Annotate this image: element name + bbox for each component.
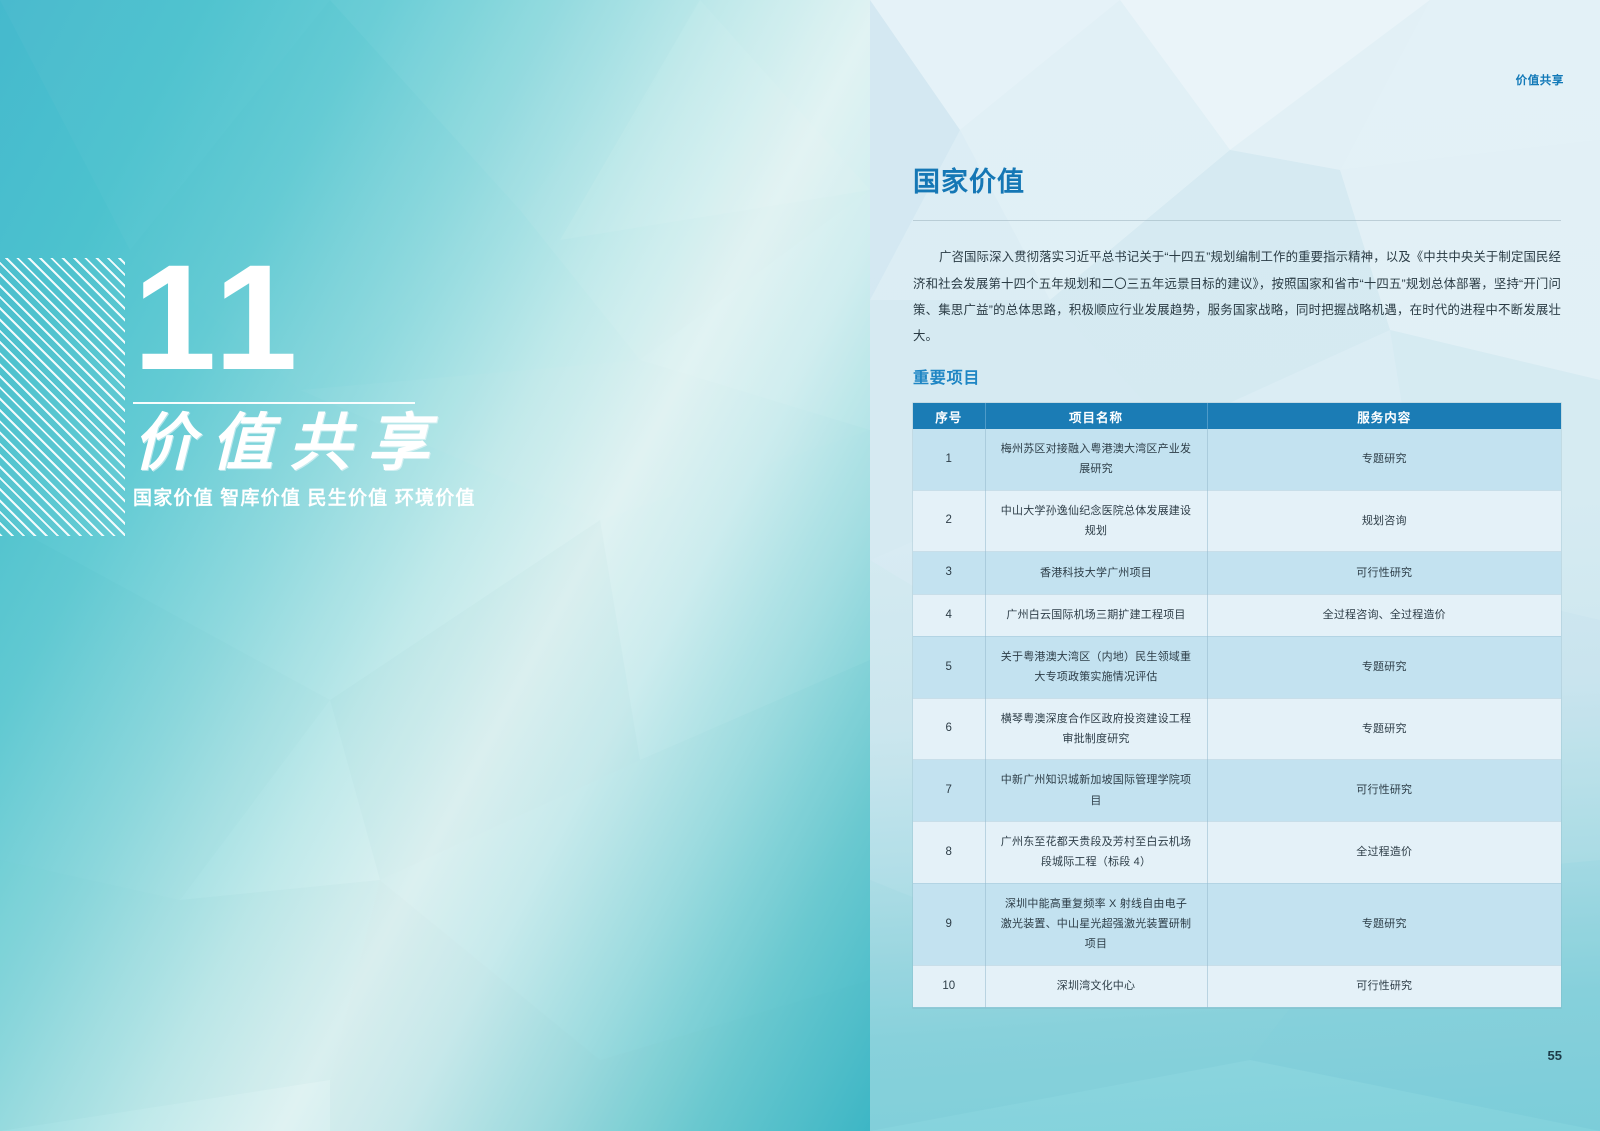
page-title: 国家价值 (913, 160, 1025, 199)
cell-service: 专题研究 (1207, 429, 1561, 490)
running-head: 价值共享 (1516, 72, 1564, 88)
cell-project-name: 香港科技大学广州项目 (985, 552, 1207, 594)
cell-service: 可行性研究 (1207, 552, 1561, 594)
column-header-name: 项目名称 (985, 403, 1207, 429)
column-header-service: 服务内容 (1207, 403, 1561, 429)
cell-no: 4 (913, 594, 985, 636)
table-header-row: 序号 项目名称 服务内容 (913, 403, 1561, 429)
chapter-number: 11 (133, 248, 563, 386)
left-cover-page: 11 价值共享 国家价值 智库价值 民生价值 环境价值 (0, 0, 870, 1131)
table-row: 2中山大学孙逸仙纪念医院总体发展建设规划规划咨询 (913, 490, 1561, 552)
table-row: 4广州白云国际机场三期扩建工程项目全过程咨询、全过程造价 (913, 594, 1561, 636)
cell-service: 专题研究 (1207, 636, 1561, 698)
cell-project-name: 关于粤港澳大湾区（内地）民生领域重大专项政策实施情况评估 (985, 636, 1207, 698)
chapter-title-cn: 价值共享 (133, 410, 563, 479)
cover-divider (133, 402, 415, 404)
cell-service: 专题研究 (1207, 698, 1561, 760)
cell-service: 可行性研究 (1207, 760, 1561, 822)
diagonal-hatch-decoration (0, 258, 125, 536)
cell-no: 1 (913, 429, 985, 490)
cell-service: 可行性研究 (1207, 965, 1561, 1007)
cell-service: 专题研究 (1207, 883, 1561, 965)
chapter-subtitle: 国家价值 智库价值 民生价值 环境价值 (133, 483, 563, 510)
page-spread: 11 价值共享 国家价值 智库价值 民生价值 环境价值 (0, 0, 1600, 1131)
cell-no: 6 (913, 698, 985, 760)
cover-title-block: 11 价值共享 国家价值 智库价值 民生价值 环境价值 (133, 248, 563, 510)
cell-no: 10 (913, 965, 985, 1007)
cell-service: 规划咨询 (1207, 490, 1561, 552)
cell-no: 8 (913, 821, 985, 883)
cell-service: 全过程咨询、全过程造价 (1207, 594, 1561, 636)
cell-no: 5 (913, 636, 985, 698)
cell-no: 2 (913, 490, 985, 552)
cell-project-name: 梅州苏区对接融入粤港澳大湾区产业发展研究 (985, 429, 1207, 490)
cell-project-name: 横琴粤澳深度合作区政府投资建设工程审批制度研究 (985, 698, 1207, 760)
table-header: 序号 项目名称 服务内容 (913, 403, 1561, 429)
title-divider (913, 220, 1561, 221)
table-row: 3香港科技大学广州项目可行性研究 (913, 552, 1561, 594)
cell-no: 7 (913, 760, 985, 822)
subsection-title: 重要项目 (913, 364, 980, 388)
cell-no: 9 (913, 883, 985, 965)
cell-project-name: 中新广州知识城新加坡国际管理学院项目 (985, 760, 1207, 822)
cell-project-name: 深圳湾文化中心 (985, 965, 1207, 1007)
key-projects-table: 序号 项目名称 服务内容 1梅州苏区对接融入粤港澳大湾区产业发展研究专题研究2中… (913, 403, 1561, 1008)
table-row: 1梅州苏区对接融入粤港澳大湾区产业发展研究专题研究 (913, 429, 1561, 490)
table-row: 9深圳中能高重复频率 X 射线自由电子激光装置、中山星光超强激光装置研制项目专题… (913, 883, 1561, 965)
table-row: 6横琴粤澳深度合作区政府投资建设工程审批制度研究专题研究 (913, 698, 1561, 760)
column-header-no: 序号 (913, 403, 985, 429)
cell-project-name: 广州白云国际机场三期扩建工程项目 (985, 594, 1207, 636)
cell-project-name: 中山大学孙逸仙纪念医院总体发展建设规划 (985, 490, 1207, 552)
cell-project-name: 广州东至花都天贵段及芳村至白云机场段城际工程（标段 4） (985, 821, 1207, 883)
low-poly-background-left (0, 0, 870, 1131)
cell-no: 3 (913, 552, 985, 594)
cell-service: 全过程造价 (1207, 821, 1561, 883)
intro-paragraph: 广咨国际深入贯彻落实习近平总书记关于“十四五”规划编制工作的重要指示精神，以及《… (913, 244, 1561, 349)
table-body: 1梅州苏区对接融入粤港澳大湾区产业发展研究专题研究2中山大学孙逸仙纪念医院总体发… (913, 429, 1561, 1007)
table-row: 10深圳湾文化中心可行性研究 (913, 965, 1561, 1007)
table-row: 5关于粤港澳大湾区（内地）民生领域重大专项政策实施情况评估专题研究 (913, 636, 1561, 698)
page-number: 55 (1548, 1048, 1562, 1063)
cell-project-name: 深圳中能高重复频率 X 射线自由电子激光装置、中山星光超强激光装置研制项目 (985, 883, 1207, 965)
table-row: 7中新广州知识城新加坡国际管理学院项目可行性研究 (913, 760, 1561, 822)
right-content-page: 价值共享 国家价值 广咨国际深入贯彻落实习近平总书记关于“十四五”规划编制工作的… (870, 0, 1600, 1131)
table-row: 8广州东至花都天贵段及芳村至白云机场段城际工程（标段 4）全过程造价 (913, 821, 1561, 883)
